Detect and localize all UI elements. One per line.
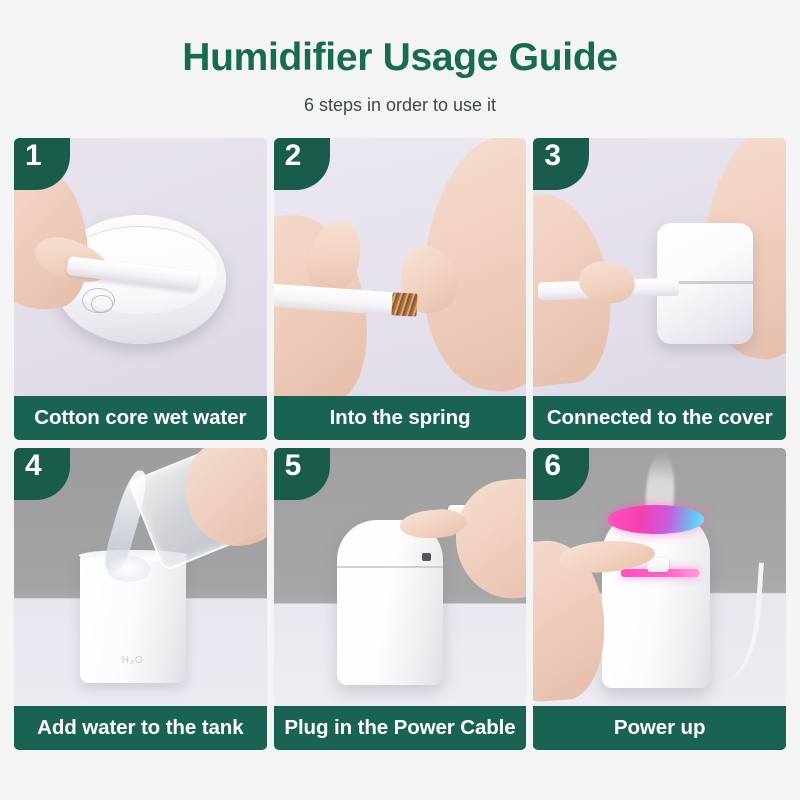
power-cord: [706, 560, 765, 682]
header: Humidifier Usage Guide 6 steps in order …: [0, 0, 800, 116]
copper-spring: [392, 292, 418, 317]
infographic-page: Humidifier Usage Guide 6 steps in order …: [0, 0, 800, 800]
step-card-1[interactable]: 1 Cotton core wet water: [14, 138, 267, 440]
water-ripple: [91, 295, 113, 312]
usb-port: [422, 553, 432, 561]
power-button[interactable]: [647, 558, 669, 572]
step-card-4[interactable]: 4 H₂O Add water to the tank: [14, 448, 267, 750]
step-card-2[interactable]: 2 Into the spring: [274, 138, 527, 440]
step-card-6[interactable]: 6 Power up: [533, 448, 786, 750]
unit-seam: [337, 566, 443, 568]
step-caption-2: Into the spring: [274, 396, 527, 440]
humidifier-unit: [602, 512, 711, 687]
step-card-3[interactable]: 3 Connected to the cover: [533, 138, 786, 440]
step-caption-4: Add water to the tank: [14, 706, 267, 750]
step-caption-5: Plug in the Power Cable: [274, 706, 527, 750]
led-light-ring: [608, 505, 704, 533]
page-subtitle: 6 steps in order to use it: [0, 95, 800, 116]
step-card-5[interactable]: 5 Plug in the Power Cable: [274, 448, 527, 750]
step-caption-3: Connected to the cover: [533, 396, 786, 440]
page-title: Humidifier Usage Guide: [0, 38, 800, 79]
hand: [450, 473, 527, 604]
humidifier-unit: [337, 520, 443, 685]
steps-grid: 1 Cotton core wet water 2: [14, 138, 786, 750]
step-caption-6: Power up: [533, 706, 786, 750]
step-caption-1: Cotton core wet water: [14, 396, 267, 440]
h2o-label: H₂O: [80, 655, 186, 666]
